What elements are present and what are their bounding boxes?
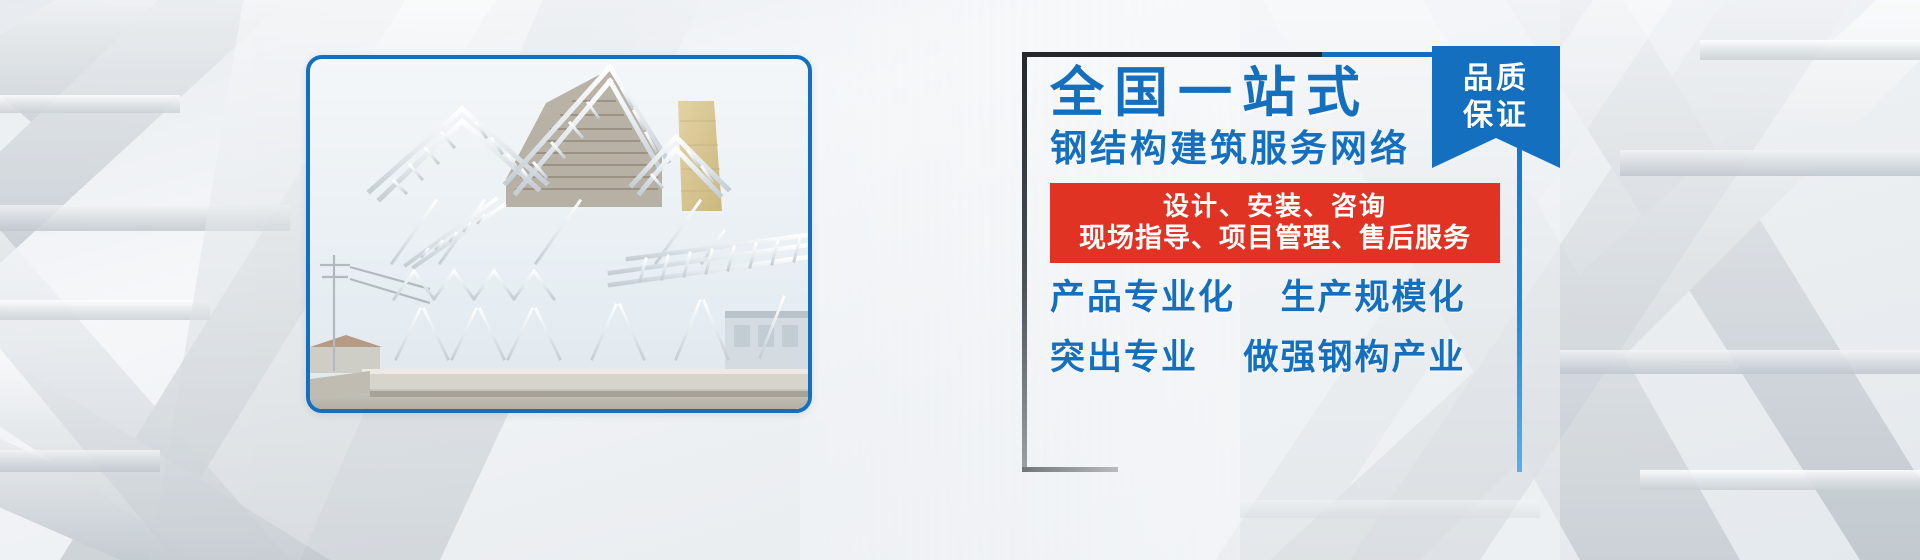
frame-border-left — [1022, 52, 1027, 472]
tagline-row-1: 产品专业化 生产规模化 — [1050, 273, 1520, 323]
tagline-2-right: 做强钢构产业 — [1243, 338, 1465, 377]
promo-banner: 全国一站式 钢结构建筑服务网络 设计、安装、咨询 现场指导、项目管理、售后服务 … — [0, 0, 1920, 560]
tagline-1-left: 产品专业化 — [1050, 278, 1235, 317]
badge-label: 品质 保证 — [1432, 60, 1560, 134]
quality-guarantee-badge: 品质 保证 — [1432, 46, 1560, 168]
tagline-row-2: 突出专业 做强钢构产业 — [1050, 333, 1520, 383]
badge-line-1: 品质 — [1432, 60, 1560, 97]
services-line-2: 现场指导、项目管理、售后服务 — [1050, 222, 1500, 254]
frame-border-top-dark — [1022, 52, 1322, 57]
badge-line-2: 保证 — [1432, 97, 1560, 134]
services-line-1: 设计、安装、咨询 — [1050, 190, 1500, 222]
steel-frame-house-photo — [306, 55, 812, 413]
steel-house-illustration — [310, 59, 808, 409]
services-box: 设计、安装、咨询 现场指导、项目管理、售后服务 — [1050, 183, 1500, 263]
tagline-2-left: 突出专业 — [1050, 338, 1198, 377]
tagline-1-right: 生产规模化 — [1280, 278, 1465, 317]
frame-border-bottom — [1022, 467, 1118, 472]
steel-truss-background — [0, 0, 1920, 560]
